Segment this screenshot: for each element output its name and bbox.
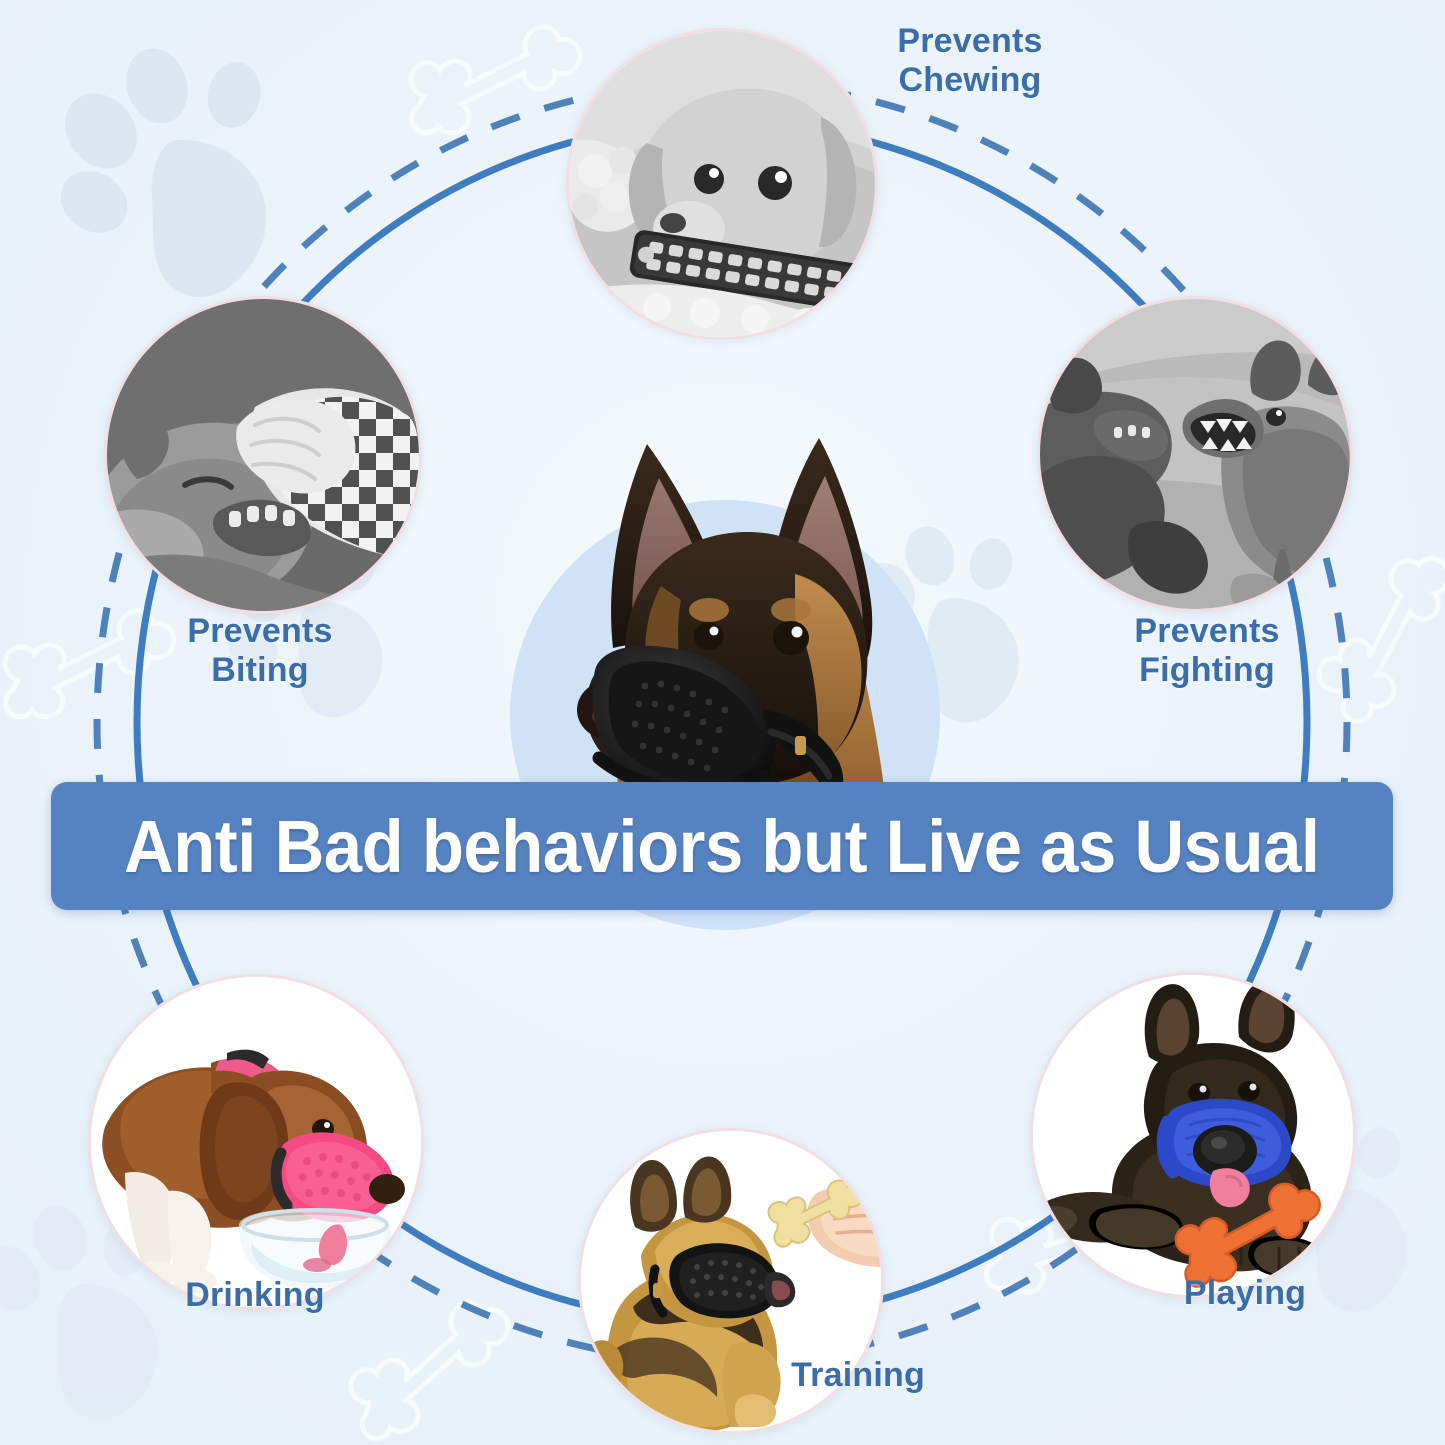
node-playing[interactable] — [1030, 972, 1356, 1298]
biting-photo — [107, 299, 419, 611]
node-drinking[interactable] — [88, 974, 424, 1310]
headline-text: Anti Bad behaviors but Live as Usual — [124, 804, 1320, 889]
label-line-1: Prevents — [1134, 612, 1279, 650]
fighting-photo — [1040, 299, 1350, 609]
label-line-1: Drinking — [185, 1276, 325, 1314]
label-training: Training — [718, 1356, 998, 1395]
label-line-2: Fighting — [1139, 651, 1275, 689]
playing-photo — [1033, 975, 1353, 1295]
drinking-photo — [91, 977, 421, 1307]
label-line-1: Training — [791, 1356, 925, 1394]
label-line-2: Chewing — [898, 61, 1041, 99]
label-line-2: Biting — [211, 651, 309, 689]
label-line-1: Playing — [1184, 1274, 1306, 1312]
label-prevents-fighting: Prevents Fighting — [1062, 612, 1352, 690]
label-line-1: Prevents — [187, 612, 332, 650]
center-dog-photo — [495, 318, 965, 818]
headline-banner: Anti Bad behaviors but Live as Usual — [51, 782, 1393, 910]
label-drinking: Drinking — [105, 1276, 405, 1315]
node-prevents-biting[interactable] — [104, 296, 422, 614]
label-prevents-chewing: Prevents Chewing — [810, 22, 1130, 100]
node-prevents-fighting[interactable] — [1037, 296, 1353, 612]
label-line-1: Prevents — [897, 22, 1042, 60]
label-playing: Playing — [1110, 1274, 1380, 1313]
label-prevents-biting: Prevents Biting — [130, 612, 390, 690]
infographic-canvas: Prevents Chewing — [0, 0, 1445, 1445]
